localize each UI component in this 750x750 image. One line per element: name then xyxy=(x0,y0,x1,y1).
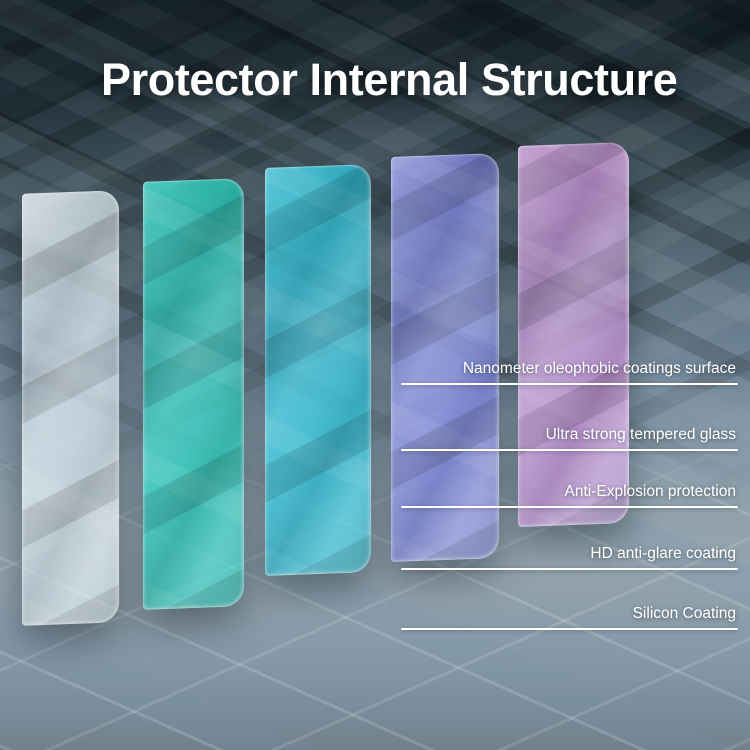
callout-leader-line xyxy=(401,449,738,451)
callout-row: Anti-Explosion protection xyxy=(401,483,738,508)
pink-protector-layer xyxy=(518,142,629,527)
panel-edge-highlight xyxy=(143,178,244,610)
callout-leader-line xyxy=(401,568,738,570)
cyan-protector-layer xyxy=(265,164,371,576)
panel-edge-highlight xyxy=(265,164,371,576)
callout-label: Nanometer oleophobic coatings surface xyxy=(401,360,738,383)
callout-label: Ultra strong tempered glass xyxy=(401,426,738,449)
callout-label: Silicon Coating xyxy=(401,605,738,628)
callout-row: Silicon Coating xyxy=(401,605,738,630)
callout-label: HD anti-glare coating xyxy=(401,545,738,568)
product-infographic: Protector Internal Structure Nanometer o… xyxy=(0,0,750,750)
callout-label: Anti-Explosion protection xyxy=(401,483,738,506)
teal-protector-layer xyxy=(143,178,244,610)
callout-leader-line xyxy=(401,383,738,385)
callout-row: HD anti-glare coating xyxy=(401,545,738,570)
callout-leader-line xyxy=(401,628,738,630)
callout-row: Nanometer oleophobic coatings surface xyxy=(401,360,738,385)
callout-row: Ultra strong tempered glass xyxy=(401,426,738,451)
clear-protector-layer xyxy=(22,190,119,626)
panel-edge-highlight xyxy=(518,142,629,527)
callout-leader-line xyxy=(401,506,738,508)
panel-edge-highlight xyxy=(22,190,119,626)
